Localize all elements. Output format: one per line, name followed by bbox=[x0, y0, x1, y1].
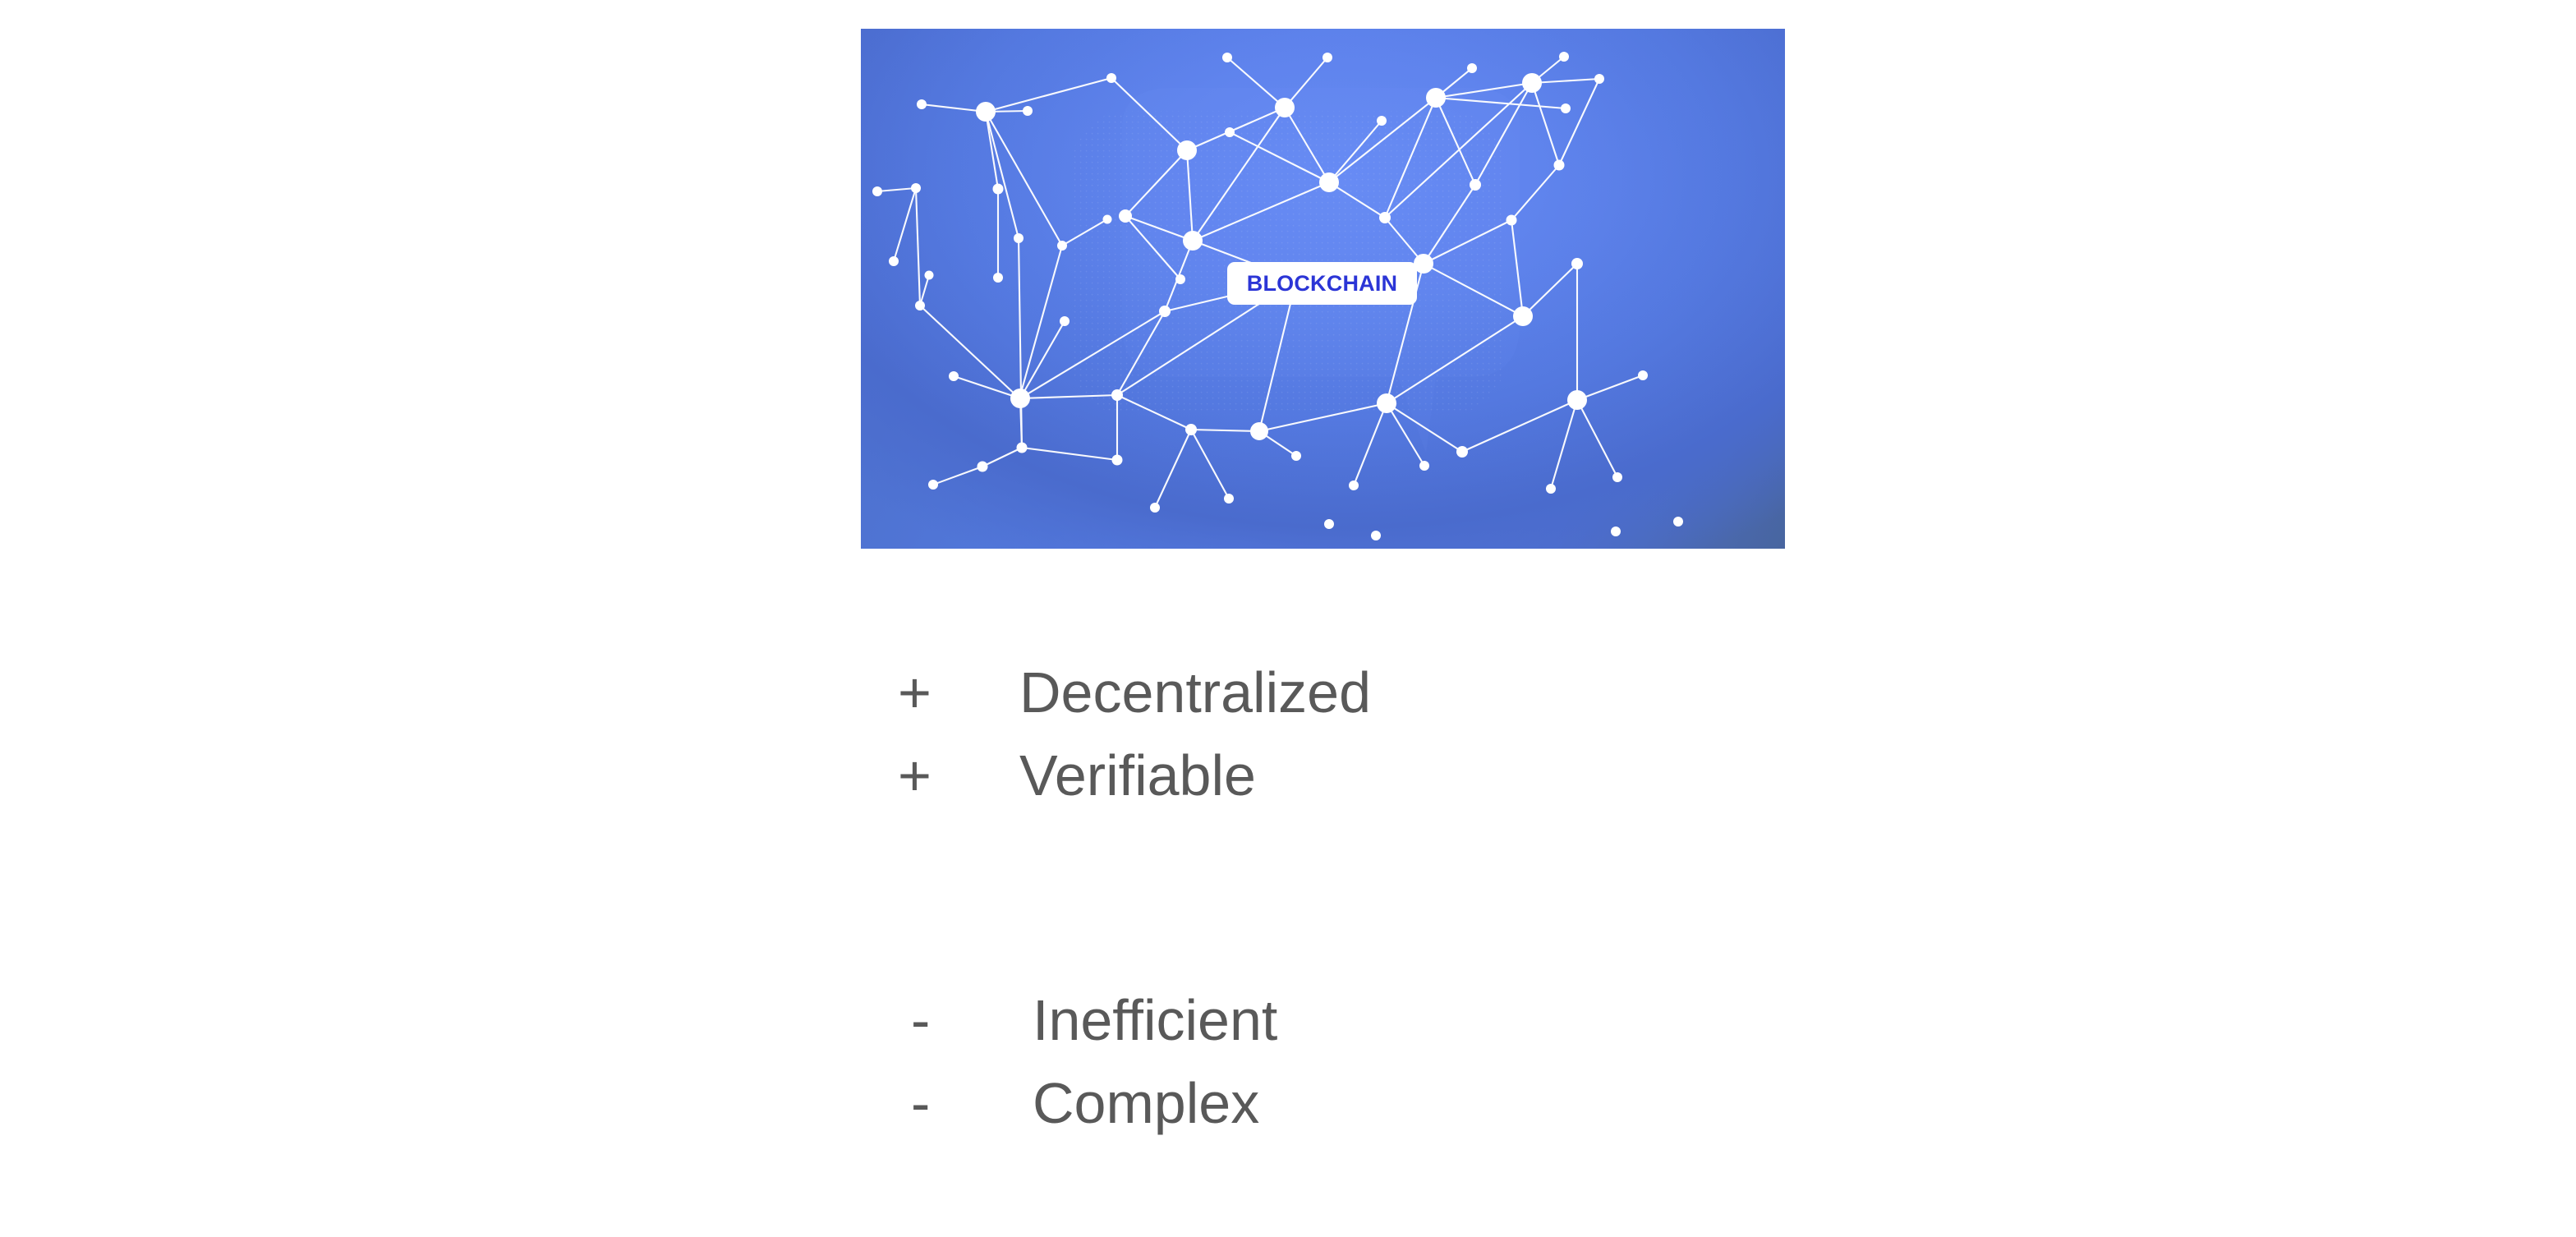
blockchain-badge: BLOCKCHAIN bbox=[1227, 262, 1417, 305]
list-item: - Inefficient bbox=[891, 979, 1277, 1062]
cons-item-label: Inefficient bbox=[1033, 979, 1277, 1062]
cons-item-label: Complex bbox=[1033, 1062, 1259, 1145]
pros-item-label: Decentralized bbox=[1019, 651, 1371, 734]
list-item: + Verifiable bbox=[891, 734, 1371, 817]
list-item: - Complex bbox=[891, 1062, 1277, 1145]
plus-icon: + bbox=[891, 734, 1019, 817]
pros-list: + Decentralized + Verifiable bbox=[891, 651, 1371, 817]
minus-icon: - bbox=[891, 1062, 1033, 1145]
blockchain-badge-label: BLOCKCHAIN bbox=[1247, 271, 1398, 297]
list-item: + Decentralized bbox=[891, 651, 1371, 734]
plus-icon: + bbox=[891, 651, 1019, 734]
cons-list: - Inefficient - Complex bbox=[891, 979, 1277, 1145]
pros-item-label: Verifiable bbox=[1019, 734, 1256, 817]
minus-icon: - bbox=[891, 979, 1033, 1062]
